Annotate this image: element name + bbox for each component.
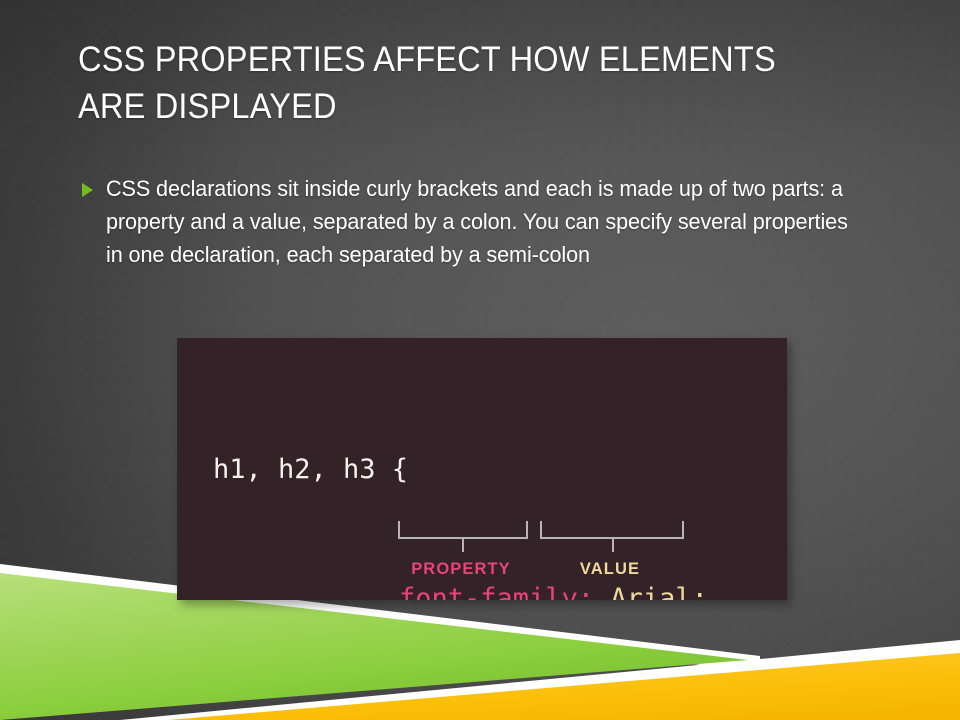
slide: CSS Properties affect how elements are d… bbox=[0, 0, 960, 720]
code-property-value: Arial; bbox=[594, 583, 708, 600]
property-bracket-tick bbox=[462, 537, 464, 552]
triangle-bullet-icon bbox=[82, 183, 93, 197]
bullet-list: CSS declarations sit inside curly bracke… bbox=[82, 172, 882, 271]
code-line-2: font-family: Arial; bbox=[177, 577, 787, 600]
code-line-1: h1, h2, h3 { bbox=[177, 448, 787, 491]
code-property-name: font-family: bbox=[399, 583, 594, 600]
page-title: CSS Properties affect how elements are d… bbox=[78, 36, 850, 130]
code-selector: h1, h2, h3 { bbox=[213, 454, 408, 485]
code-example-figure: h1, h2, h3 { font-family: Arial; color: … bbox=[177, 338, 787, 600]
property-annotation-label: PROPERTY bbox=[398, 560, 524, 579]
bullet-item-text: CSS declarations sit inside curly bracke… bbox=[106, 172, 851, 271]
value-annotation-label: VALUE bbox=[540, 560, 680, 579]
value-bracket-tick bbox=[612, 537, 614, 552]
